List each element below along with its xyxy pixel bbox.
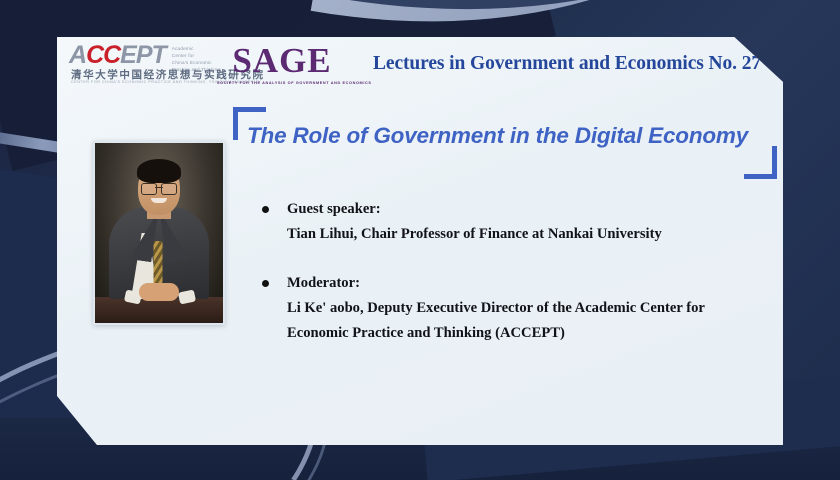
title-block: The Role of Government in the Digital Ec… xyxy=(233,107,773,175)
accept-wordmark: ACCEPT xyxy=(69,43,166,68)
moderator-entry: Moderator: Li Ke' aobo, Deputy Executive… xyxy=(287,271,757,346)
slide-header: ACCEPT Academic Center for China's Econo… xyxy=(57,37,783,99)
portrait-hands xyxy=(139,283,179,301)
slide-card: ACCEPT Academic Center for China's Econo… xyxy=(57,37,783,445)
bracket-bottom-right-icon xyxy=(744,146,777,179)
accept-wordmark-c: CC xyxy=(86,41,120,69)
lecture-series-title: Lectures in Government and Economics No.… xyxy=(373,53,773,75)
portrait-smile xyxy=(151,198,167,203)
sage-logo: SAGE SOCIETY FOR THE ANALYSIS OF GOVERNM… xyxy=(217,43,347,85)
list-item: Moderator: Li Ke' aobo, Deputy Executive… xyxy=(262,271,757,346)
sage-wordmark: SAGE xyxy=(217,43,347,80)
moderator-role-label: Moderator: xyxy=(287,271,757,296)
portrait-glasses-icon xyxy=(141,183,177,193)
accept-subtitle-line-1: Academic xyxy=(172,45,220,52)
portrait-hair xyxy=(137,159,181,183)
page-title: The Role of Government in the Digital Ec… xyxy=(247,123,767,149)
accept-wordmark-post: EPT xyxy=(120,41,166,69)
accept-subtitle-line-2: Center for xyxy=(172,52,220,59)
presentation-slide: ACCEPT Academic Center for China's Econo… xyxy=(0,0,840,480)
slide-body: Guest speaker: Tian Lihui, Chair Profess… xyxy=(262,197,757,370)
list-item: Guest speaker: Tian Lihui, Chair Profess… xyxy=(262,197,757,247)
speaker-entry: Guest speaker: Tian Lihui, Chair Profess… xyxy=(287,197,662,247)
accept-subtitle-line-3: China's Economic xyxy=(172,59,220,66)
speaker-role-label: Guest speaker: xyxy=(287,197,662,222)
moderator-name-detail: Li Ke' aobo, Deputy Executive Director o… xyxy=(287,296,757,346)
bullet-dot-icon xyxy=(262,280,269,287)
sage-tagline: SOCIETY FOR THE ANALYSIS OF GOVERNMENT A… xyxy=(217,81,347,85)
bullet-dot-icon xyxy=(262,206,269,213)
accept-wordmark-pre: A xyxy=(69,41,86,69)
speaker-portrait xyxy=(93,141,225,325)
speaker-name-detail: Tian Lihui, Chair Professor of Finance a… xyxy=(287,222,662,247)
